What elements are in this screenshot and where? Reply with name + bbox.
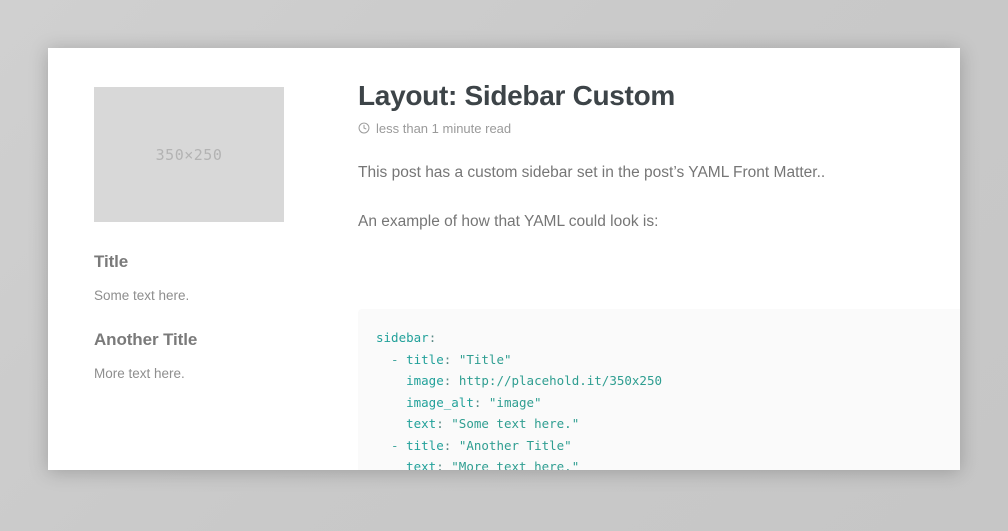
- code-token: [376, 459, 406, 470]
- yaml-code: sidebar: - title: "Title" image: http://…: [376, 330, 662, 470]
- sidebar-block-title-text: Some text here.: [94, 286, 286, 306]
- code-token: :: [444, 373, 459, 388]
- code-token: [376, 373, 406, 388]
- code-token: -: [376, 352, 406, 367]
- custom-sidebar: 350×250 Title Some text here. Another Ti…: [94, 87, 286, 409]
- sidebar-block-another-title: Another Title More text here.: [94, 330, 286, 384]
- sidebar-block-another-title-heading: Another Title: [94, 330, 286, 350]
- code-token: :: [444, 438, 459, 453]
- page-title: Layout: Sidebar Custom: [358, 81, 960, 112]
- code-token: sidebar: [376, 330, 429, 345]
- post-meta: less than 1 minute read: [358, 121, 960, 136]
- code-token: "Title": [459, 352, 512, 367]
- read-time-label: less than 1 minute read: [376, 121, 511, 136]
- sidebar-image-placeholder: 350×250: [94, 87, 284, 222]
- post-paragraph-1: This post has a custom sidebar set in th…: [358, 162, 960, 184]
- clock-icon: [358, 122, 370, 134]
- code-token: "Some text here.": [451, 416, 579, 431]
- code-token: "More text here.": [451, 459, 579, 470]
- page-inner: 350×250 Title Some text here. Another Ti…: [48, 48, 960, 470]
- code-token: -: [376, 438, 406, 453]
- code-token: "image": [489, 395, 542, 410]
- code-token: title: [406, 438, 444, 453]
- post-body: This post has a custom sidebar set in th…: [358, 162, 960, 234]
- yaml-code-content: sidebar: - title: "Title" image: http://…: [376, 327, 960, 470]
- yaml-code-block: sidebar: - title: "Title" image: http://…: [358, 309, 960, 470]
- code-token: :: [474, 395, 489, 410]
- post-paragraph-2: An example of how that YAML could look i…: [358, 211, 960, 233]
- code-token: [376, 416, 406, 431]
- code-token: http://placehold.it/350x250: [459, 373, 662, 388]
- post-main: Layout: Sidebar Custom less than 1 minut…: [358, 81, 960, 470]
- code-token: title: [406, 352, 444, 367]
- code-token: :: [436, 459, 451, 470]
- code-token: image_alt: [406, 395, 474, 410]
- code-token: :: [444, 352, 459, 367]
- sidebar-image-placeholder-label: 350×250: [156, 146, 223, 164]
- page-card: 350×250 Title Some text here. Another Ti…: [48, 48, 960, 470]
- code-token: :: [429, 330, 437, 345]
- sidebar-block-title-heading: Title: [94, 252, 286, 272]
- code-token: :: [436, 416, 451, 431]
- code-token: [376, 395, 406, 410]
- code-token: text: [406, 416, 436, 431]
- sidebar-block-another-title-text: More text here.: [94, 364, 286, 384]
- code-token: text: [406, 459, 436, 470]
- code-token: "Another Title": [459, 438, 572, 453]
- code-token: image: [406, 373, 444, 388]
- sidebar-block-title: Title Some text here.: [94, 252, 286, 306]
